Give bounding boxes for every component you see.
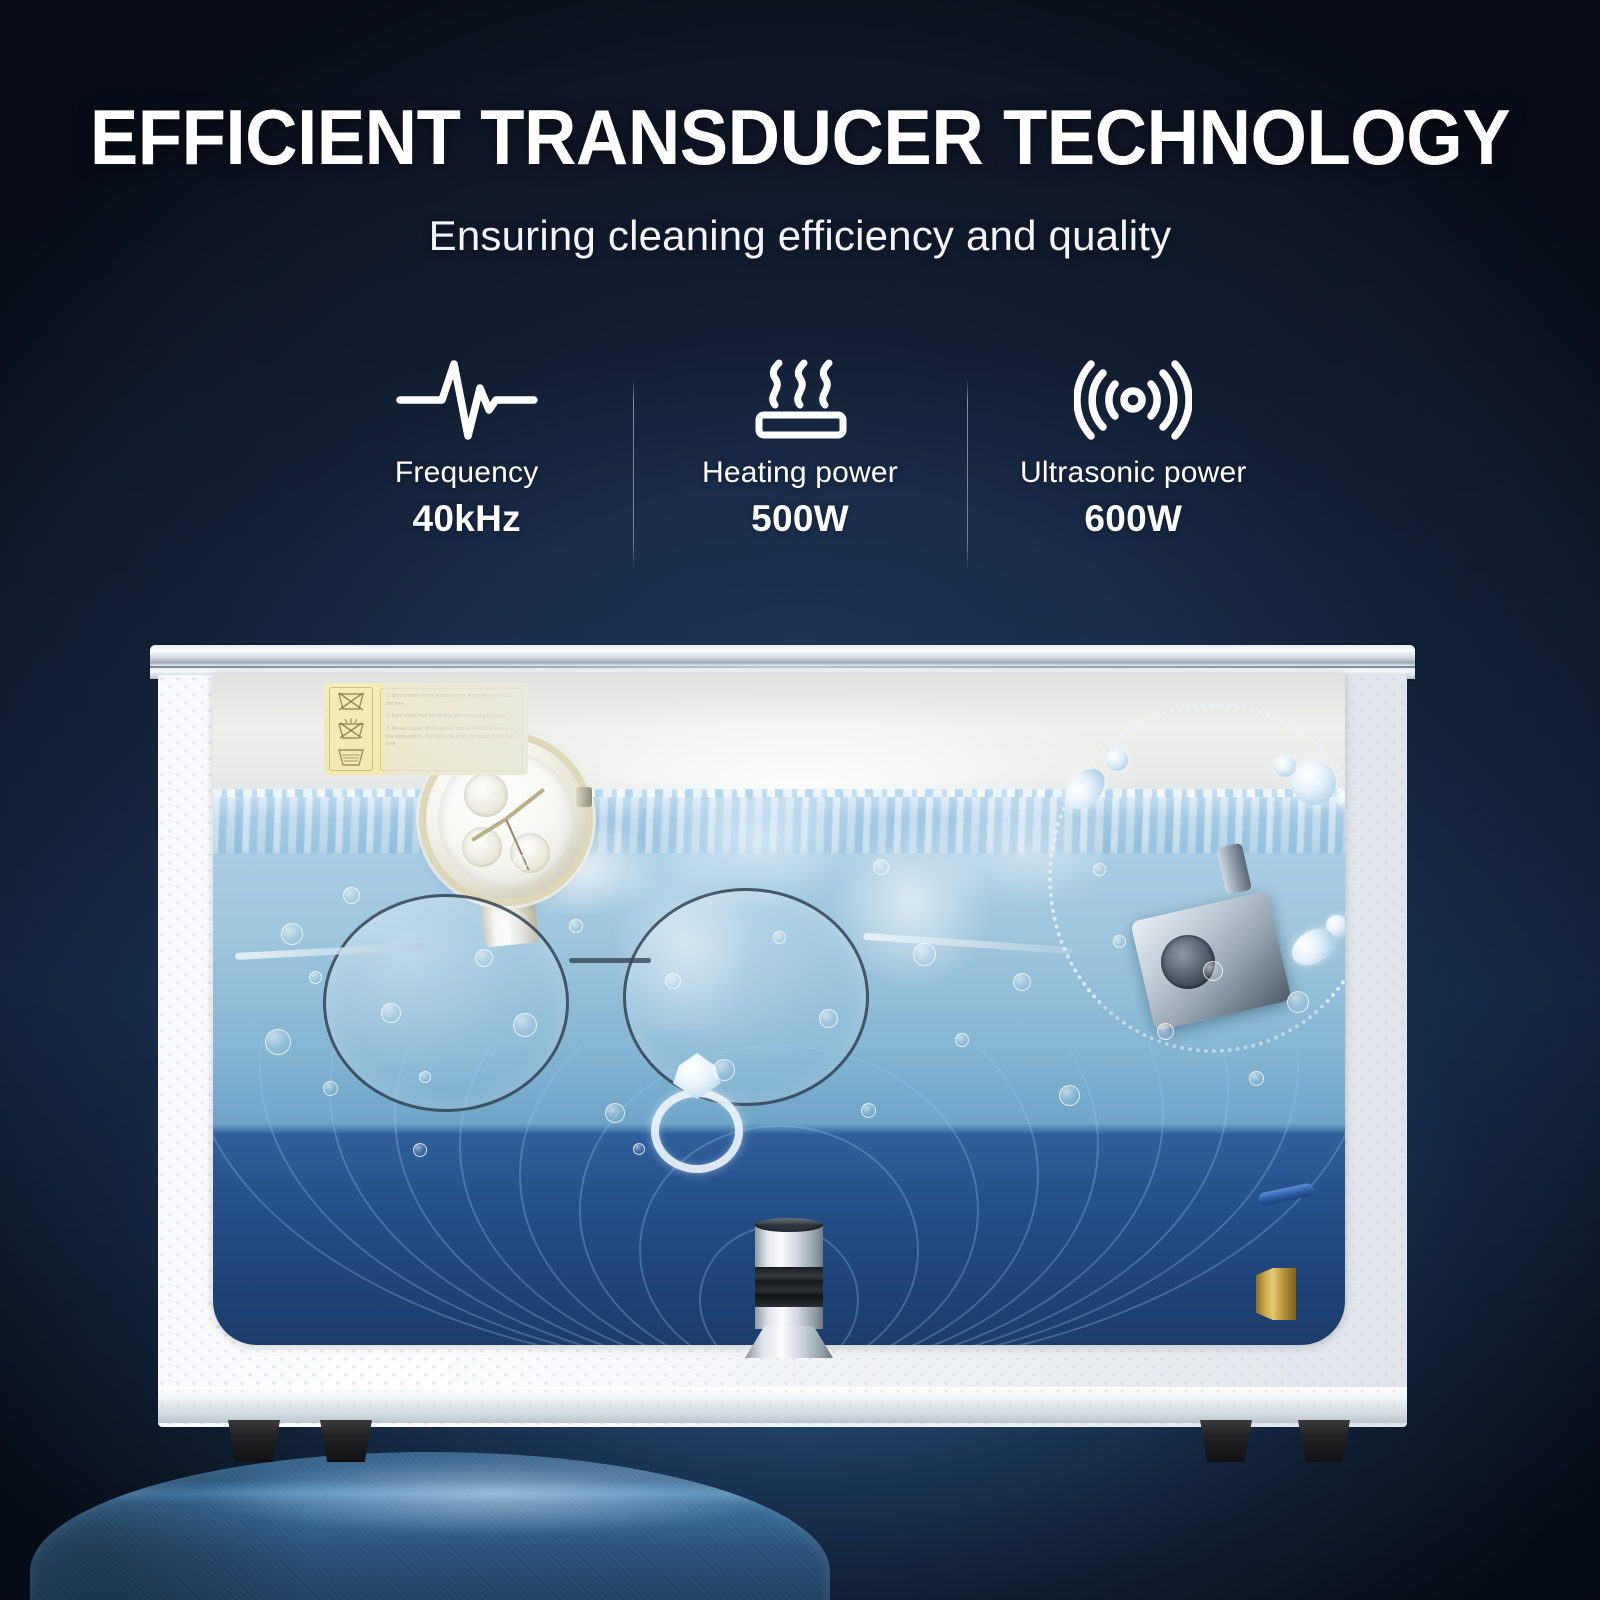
- heating-element-icon: [745, 360, 855, 440]
- no-heat-empty-icon: [334, 717, 368, 741]
- machine-base-plate: [158, 1387, 1407, 1423]
- fill-water-level-icon: [334, 746, 368, 768]
- spec-item-frequency: Frequency 40kHz: [300, 360, 633, 570]
- promo-banner: EFFICIENT TRANSDUCER TECHNOLOGY Ensuring…: [0, 0, 1600, 1600]
- rubber-foot: [1200, 1420, 1252, 1462]
- spec-divider: [967, 378, 968, 570]
- no-dry-run-icon: [334, 690, 368, 712]
- spec-value: 500W: [751, 498, 849, 540]
- spec-strip: Frequency 40kHz Heating power 500W: [300, 360, 1300, 570]
- spec-label: Frequency: [395, 456, 539, 490]
- ring-band: [651, 1089, 743, 1173]
- eyeglass-bridge: [569, 958, 651, 963]
- page-subtitle: Ensuring cleaning efficiency and quality: [0, 212, 1600, 260]
- rubber-foot: [228, 1420, 280, 1462]
- warning-line-2: 2. Don't keep heat the device after empt…: [386, 713, 518, 721]
- transducer-top-face: [755, 1218, 823, 1232]
- warning-label-icons: [329, 687, 373, 771]
- spec-value: 600W: [1084, 498, 1182, 540]
- warning-label: 1. Don't power on the device before fill…: [324, 683, 528, 775]
- spec-item-ultrasonic-power: Ultrasonic power 600W: [967, 360, 1300, 570]
- eyeglass-lens-left: [323, 894, 569, 1112]
- warning-label-text: 1. Don't power on the device before fill…: [380, 688, 523, 771]
- bracelet-bead: [1106, 749, 1128, 771]
- spec-divider: [633, 378, 634, 570]
- warning-line-3: 3. Please power off the device and let t…: [386, 726, 518, 750]
- rubber-foot: [1298, 1420, 1350, 1462]
- spec-label: Heating power: [702, 456, 898, 490]
- spec-label: Ultrasonic power: [1020, 456, 1247, 490]
- waveform-pulse-icon: [392, 360, 542, 440]
- transducer-ceramic-rings: [755, 1267, 823, 1307]
- product-pedestal: [30, 1452, 830, 1600]
- brass-drain-valve: [1256, 1268, 1296, 1320]
- spec-item-heating-power: Heating power 500W: [633, 360, 966, 570]
- watch-hand: [505, 788, 545, 821]
- page-title: EFFICIENT TRANSDUCER TECHNOLOGY: [56, 98, 1544, 176]
- spec-value: 40kHz: [412, 498, 520, 540]
- warning-line-1: 1. Don't power on the device before fill…: [386, 693, 518, 709]
- bracelet-bead: [1292, 761, 1336, 805]
- rubber-foot: [320, 1420, 372, 1462]
- piezoelectric-transducer: [745, 1218, 833, 1358]
- transducer-mid-body: [755, 1307, 823, 1329]
- ultrasonic-waves-icon: [1074, 360, 1192, 440]
- watch-crown: [576, 787, 592, 807]
- watch-subdial: [464, 773, 508, 817]
- transducer-base: [745, 1326, 833, 1358]
